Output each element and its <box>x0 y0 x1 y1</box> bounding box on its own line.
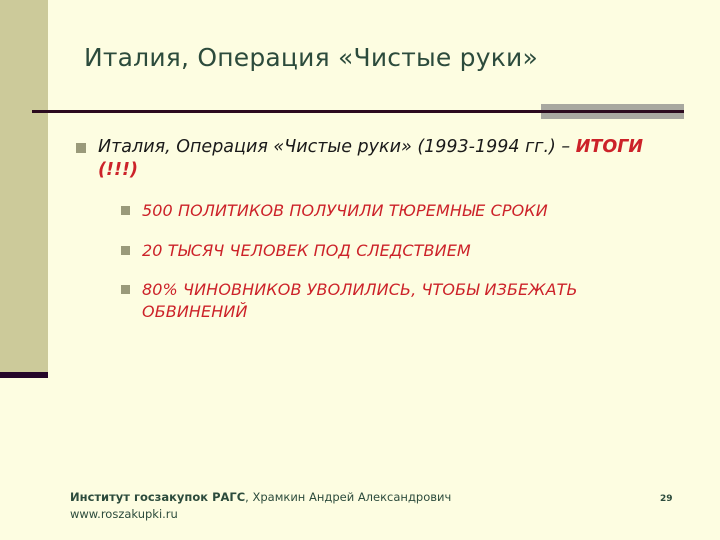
bullet-level1-text: Италия, Операция «Чистые руки» (1993-199… <box>98 136 676 182</box>
slide: Италия, Операция «Чистые руки» Италия, О… <box>0 0 720 540</box>
content-body: Италия, Операция «Чистые руки» (1993-199… <box>76 136 676 323</box>
title-divider <box>32 104 684 120</box>
footer-author: , Храмкин Андрей Александрович <box>245 490 451 504</box>
sub-bullet-list: 500 ПОЛИТИКОВ ПОЛУЧИЛИ ТЮРЕМНЫЕ СРОКИ 20… <box>121 200 676 322</box>
footer: Институт госзакупок РАГС, Храмкин Андрей… <box>70 489 451 524</box>
page-number: 29 <box>660 494 673 504</box>
bullet-level2: 500 ПОЛИТИКОВ ПОЛУЧИЛИ ТЮРЕМНЫЕ СРОКИ <box>121 200 676 222</box>
bullet-level1: Италия, Операция «Чистые руки» (1993-199… <box>76 136 676 182</box>
bullet-level2-text: 80% ЧИНОВНИКОВ УВОЛИЛИСЬ, ЧТОБЫ ИЗБЕЖАТЬ… <box>142 279 676 322</box>
bullet-level1-plain: Италия, Операция «Чистые руки» (1993-199… <box>98 137 576 157</box>
footer-organization: Институт госзакупок РАГС <box>70 490 245 504</box>
square-bullet-icon <box>121 206 130 215</box>
page-title: Италия, Операция «Чистые руки» <box>84 44 684 73</box>
divider-line <box>32 110 684 113</box>
square-bullet-icon <box>76 143 86 153</box>
bullet-level2: 20 ТЫСЯЧ ЧЕЛОВЕК ПОД СЛЕДСТВИЕМ <box>121 240 676 262</box>
square-bullet-icon <box>121 285 130 294</box>
left-decorative-band <box>0 0 48 372</box>
bullet-level2-text: 500 ПОЛИТИКОВ ПОЛУЧИЛИ ТЮРЕМНЫЕ СРОКИ <box>142 200 676 222</box>
footer-line-1: Институт госзакупок РАГС, Храмкин Андрей… <box>70 489 451 506</box>
square-bullet-icon <box>121 246 130 255</box>
bullet-level2: 80% ЧИНОВНИКОВ УВОЛИЛИСЬ, ЧТОБЫ ИЗБЕЖАТЬ… <box>121 279 676 322</box>
bullet-level2-text: 20 ТЫСЯЧ ЧЕЛОВЕК ПОД СЛЕДСТВИЕМ <box>142 240 676 262</box>
footer-website: www.roszakupki.ru <box>70 506 451 523</box>
left-band-foot-bar <box>0 372 48 378</box>
